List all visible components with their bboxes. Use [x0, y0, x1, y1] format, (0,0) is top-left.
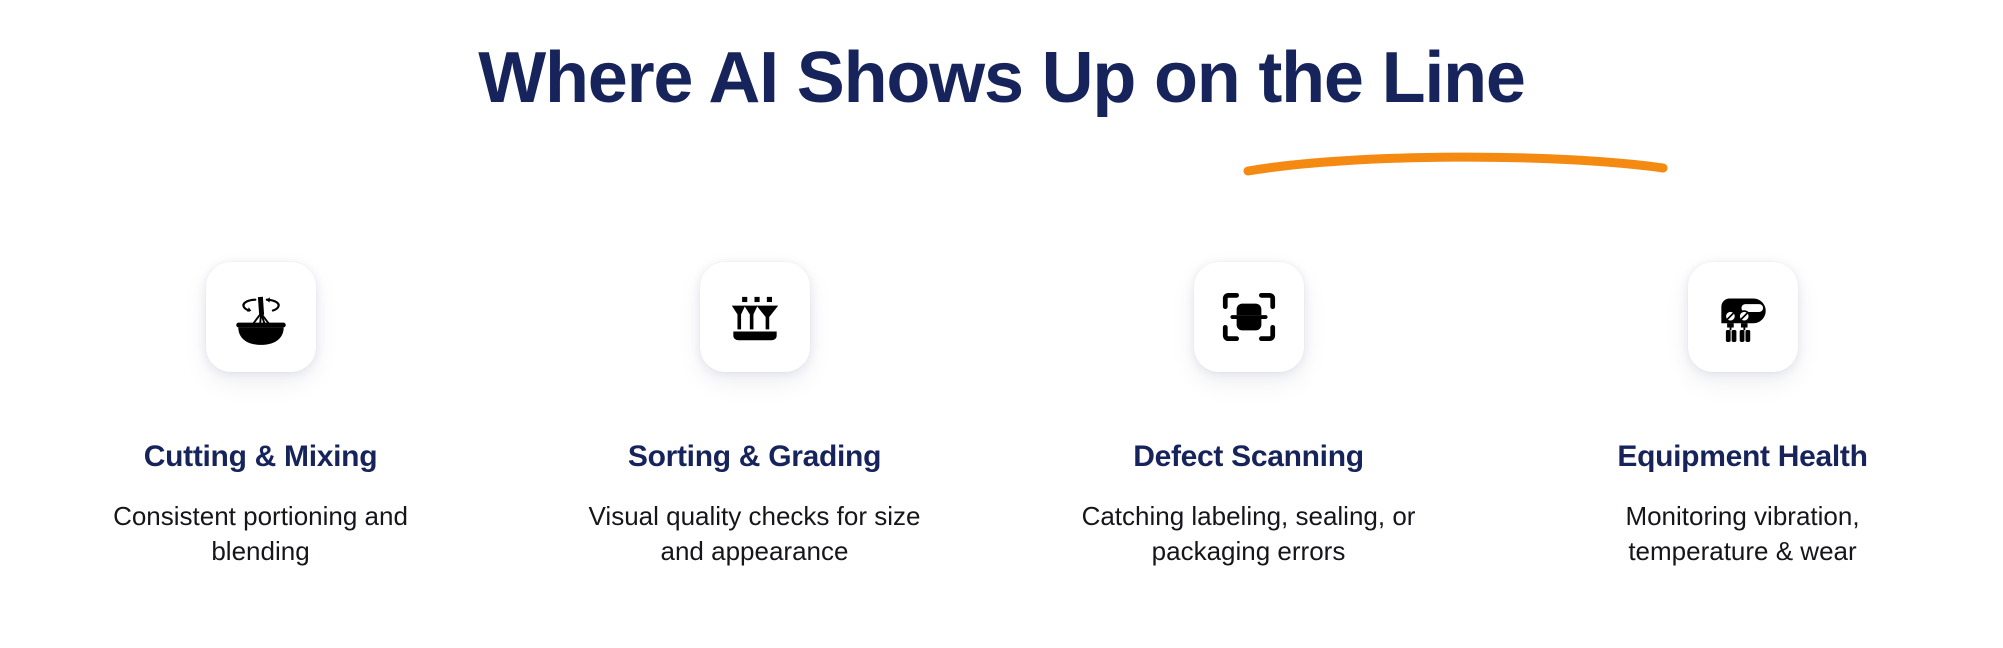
feature-item-cutting-mixing[interactable]: Cutting & Mixing Consistent portioning a… [14, 250, 508, 569]
feature-description: Consistent portioning and blending [81, 499, 441, 569]
feature-item-equipment-health[interactable]: Equipment Health Monitoring vibration, t… [1496, 250, 1990, 569]
icon-card-cutting-mixing[interactable] [206, 262, 316, 372]
page-title-text: Where AI Shows Up on the Line [478, 38, 1525, 118]
feature-section: Where AI Shows Up on the Line [0, 0, 2003, 648]
page-title: Where AI Shows Up on the Line [478, 42, 1525, 115]
feature-title: Sorting & Grading [628, 440, 881, 473]
feature-item-sorting-grading[interactable]: Sorting & Grading Visual quality checks … [508, 250, 1002, 569]
feature-title: Defect Scanning [1133, 440, 1364, 473]
feature-item-defect-scanning[interactable]: Defect Scanning Catching labeling, seali… [1002, 250, 1496, 569]
heading-block: Where AI Shows Up on the Line [0, 42, 2003, 115]
scan-frame-icon [1216, 284, 1282, 350]
feature-row: Cutting & Mixing Consistent portioning a… [0, 250, 2003, 569]
machine-gauges-icon [1710, 284, 1776, 350]
feature-description: Catching labeling, sealing, or packaging… [1069, 499, 1429, 569]
feature-title: Equipment Health [1617, 440, 1867, 473]
orange-curved-underline-icon [1243, 147, 1668, 181]
icon-card-equipment-health[interactable] [1688, 262, 1798, 372]
icon-card-sorting-grading[interactable] [700, 262, 810, 372]
feature-description: Monitoring vibration, temperature & wear [1563, 499, 1923, 569]
mixing-bowl-whisk-icon [228, 284, 294, 350]
feature-title: Cutting & Mixing [144, 440, 378, 473]
icon-card-defect-scanning[interactable] [1194, 262, 1304, 372]
feature-description: Visual quality checks for size and appea… [575, 499, 935, 569]
sorting-funnels-icon [722, 284, 788, 350]
